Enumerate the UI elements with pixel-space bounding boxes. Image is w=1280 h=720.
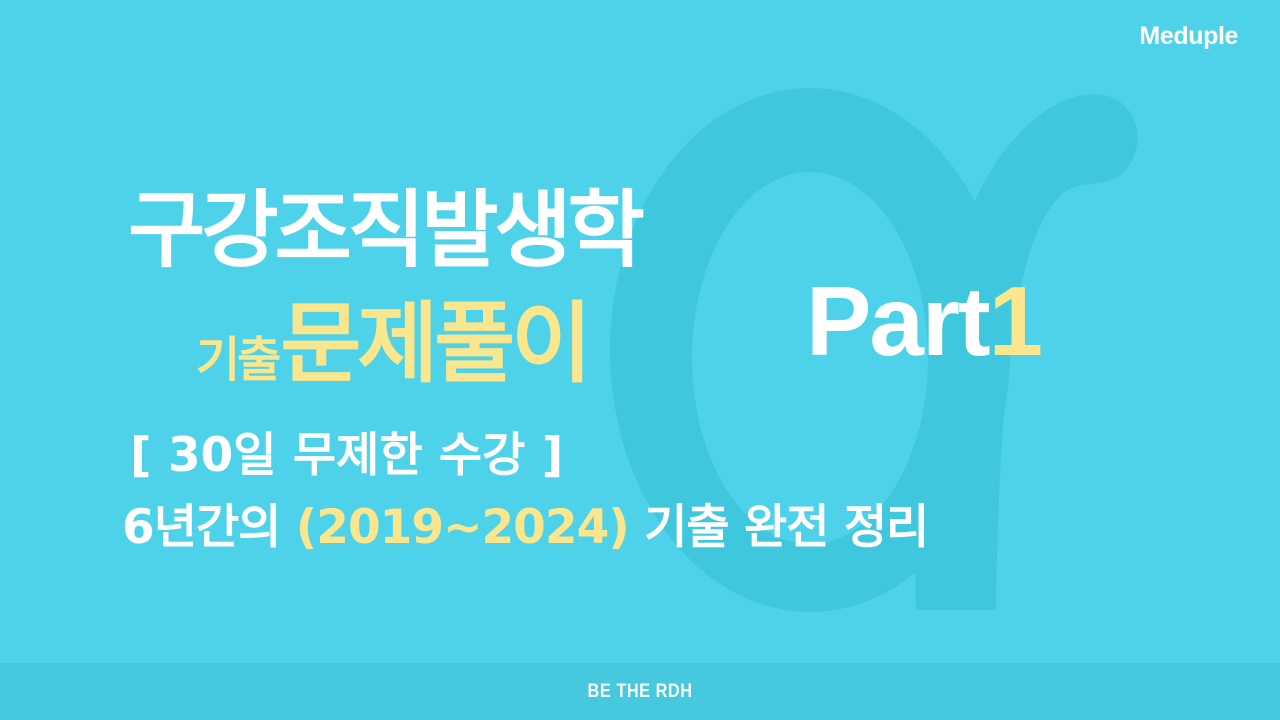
part-word: Part [806,266,989,376]
course-title-prefix: 기출 [196,336,278,388]
subtitle-coverage-prefix: 6년간의 [122,500,296,555]
subtitle-access-period: [ 30일 무제한 수강 ] [130,432,563,479]
subtitle-coverage: 6년간의 (2019~2024) 기출 완전 정리 [122,504,928,551]
part-number: 1 [989,266,1042,376]
title-block: 구강조직발생학 기출 문제풀이 Part1 [ 30일 무제한 수강 ] 6년간… [0,0,1280,600]
part-label: Part1 [806,272,1041,370]
slide-root: Meduple 구강조직발생학 기출 문제풀이 Part1 [ 30일 무제한 … [0,0,1280,720]
subtitle-coverage-suffix: 기출 완전 정리 [629,500,929,555]
footer-bar: BE THE RDH [0,663,1280,720]
subtitle-coverage-years: (2019~2024) [296,500,629,555]
course-title-line-2: 기출 문제풀이 [196,300,588,388]
course-title-emphasis: 문제풀이 [280,300,588,388]
footer-tagline: BE THE RDH [587,681,692,703]
course-title-line-1: 구강조직발생학 [128,188,641,272]
